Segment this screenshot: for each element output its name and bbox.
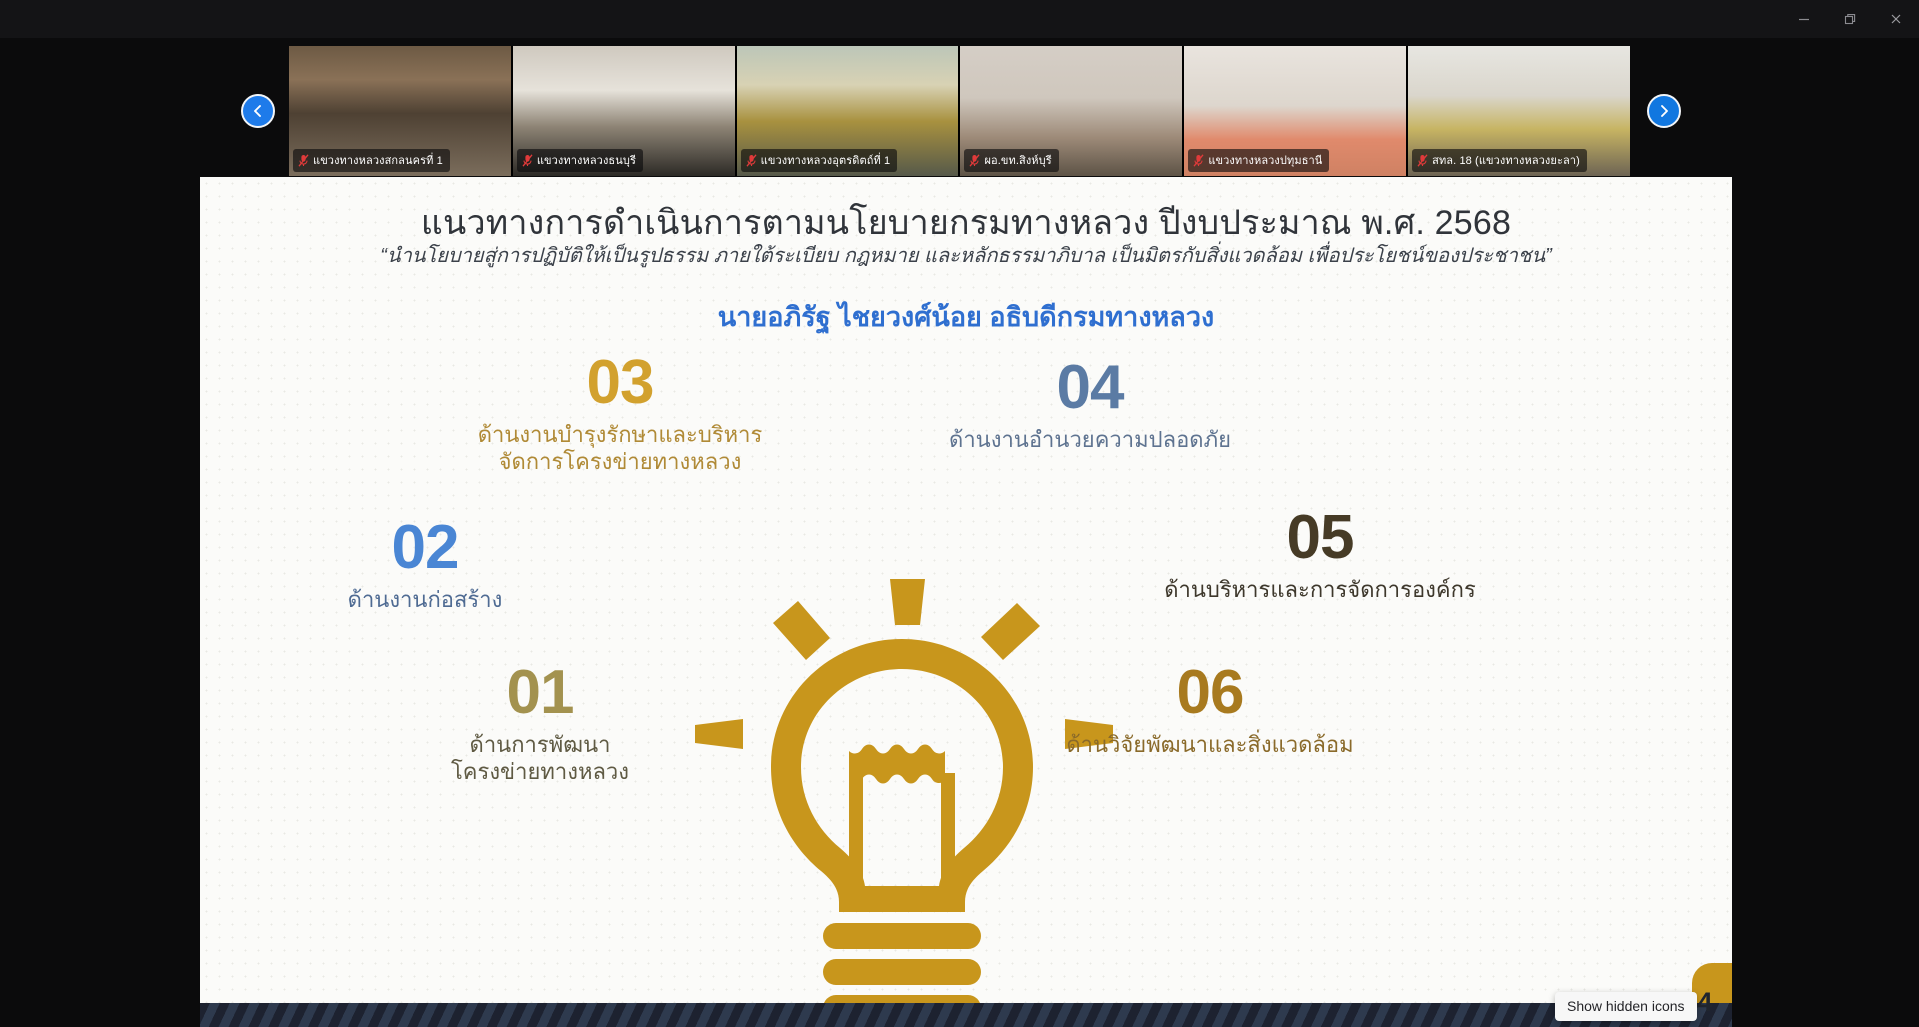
- chevron-right-icon: [1656, 103, 1672, 119]
- mic-muted-icon: [1417, 154, 1428, 167]
- participant-thumbnail[interactable]: แขวงทางหลวงธนบุรี: [513, 46, 735, 176]
- policy-item-05: 05 ด้านบริหารและการจัดการองค์กร: [1100, 507, 1540, 604]
- participant-name: แขวงทางหลวงปทุมธานี: [1208, 151, 1322, 169]
- participant-thumbnail[interactable]: แขวงทางหลวงปทุมธานี: [1184, 46, 1406, 176]
- restore-icon: [1843, 12, 1857, 26]
- policy-item-02: 02 ด้านงานก่อสร้าง: [295, 517, 555, 614]
- show-hidden-icons-tooltip: Show hidden icons: [1555, 992, 1697, 1021]
- policy-item-03: 03 ด้านงานบำรุงรักษาและบริหาร จัดการโครง…: [450, 352, 790, 476]
- participant-label: แขวงทางหลวงธนบุรี: [517, 149, 643, 172]
- policy-caption: ด้านบริหารและการจัดการองค์กร: [1100, 577, 1540, 604]
- participant-label: ผอ.ขท.สิงห์บุรี: [964, 149, 1058, 172]
- filmstrip-next-button[interactable]: [1647, 94, 1681, 128]
- policy-number: 02: [295, 517, 555, 579]
- participant-name: ผอ.ขท.สิงห์บุรี: [984, 151, 1051, 169]
- policy-caption: ด้านวิจัยพัฒนาและสิ่งแวดล้อม: [990, 732, 1430, 759]
- mic-muted-icon: [1193, 154, 1204, 167]
- policy-number: 05: [1100, 507, 1540, 569]
- policy-caption: ด้านงานก่อสร้าง: [295, 587, 555, 614]
- mic-muted-icon: [746, 154, 757, 167]
- participant-filmstrip: แขวงทางหลวงสกลนครที่ 1 แขวงทางหลวงธนบุรี…: [289, 46, 1630, 176]
- policy-number: 03: [450, 352, 790, 414]
- participant-label: แขวงทางหลวงอุตรดิตถ์ที่ 1: [741, 149, 898, 172]
- minimize-icon: [1797, 12, 1811, 26]
- window-titlebar: [0, 0, 1919, 38]
- lightbulb-icon: [687, 577, 1117, 1027]
- shared-slide[interactable]: แนวทางการดำเนินการตามนโยบายกรมทางหลวง ปี…: [200, 177, 1732, 1027]
- participant-thumbnail[interactable]: สทล. 18 (แขวงทางหลวงยะลา): [1408, 46, 1630, 176]
- participant-label: แขวงทางหลวงปทุมธานี: [1188, 149, 1329, 172]
- participant-thumbnail[interactable]: แขวงทางหลวงอุตรดิตถ์ที่ 1: [737, 46, 959, 176]
- participant-label: สทล. 18 (แขวงทางหลวงยะลา): [1412, 149, 1587, 172]
- policy-caption: ด้านงานบำรุงรักษาและบริหาร จัดการโครงข่า…: [450, 422, 790, 476]
- policy-caption: ด้านงานอำนวยความปลอดภัย: [890, 427, 1290, 454]
- slide-speaker-name: นายอภิรัฐ ไชยวงศ์น้อย อธิบดีกรมทางหลวง: [200, 295, 1732, 338]
- participant-name: แขวงทางหลวงธนบุรี: [537, 151, 636, 169]
- mic-muted-icon: [298, 154, 309, 167]
- policy-caption: ด้านการพัฒนา โครงข่ายทางหลวง: [395, 732, 685, 786]
- mic-muted-icon: [969, 154, 980, 167]
- policy-number: 04: [890, 357, 1290, 419]
- participant-name: สทล. 18 (แขวงทางหลวงยะลา): [1432, 151, 1580, 169]
- mic-muted-icon: [522, 154, 533, 167]
- slide-bottom-band: [200, 1003, 1732, 1027]
- participant-thumbnail[interactable]: แขวงทางหลวงสกลนครที่ 1: [289, 46, 511, 176]
- chevron-left-icon: [250, 103, 266, 119]
- policy-item-04: 04 ด้านงานอำนวยความปลอดภัย: [890, 357, 1290, 454]
- slide-subtitle: “นำนโยบายสู่การปฏิบัติให้เป็นรูปธรรม ภาย…: [200, 239, 1732, 271]
- policy-item-06: 06 ด้านวิจัยพัฒนาและสิ่งแวดล้อม: [990, 662, 1430, 759]
- close-icon: [1889, 12, 1903, 26]
- close-button[interactable]: [1873, 0, 1919, 38]
- policy-item-01: 01 ด้านการพัฒนา โครงข่ายทางหลวง: [395, 662, 685, 786]
- minimize-button[interactable]: [1781, 0, 1827, 38]
- participant-name: แขวงทางหลวงสกลนครที่ 1: [313, 151, 443, 169]
- restore-button[interactable]: [1827, 0, 1873, 38]
- policy-number: 01: [395, 662, 685, 724]
- participant-label: แขวงทางหลวงสกลนครที่ 1: [293, 149, 450, 172]
- policy-number: 06: [990, 662, 1430, 724]
- filmstrip-prev-button[interactable]: [241, 94, 275, 128]
- participant-name: แขวงทางหลวงอุตรดิตถ์ที่ 1: [761, 151, 891, 169]
- participant-thumbnail[interactable]: ผอ.ขท.สิงห์บุรี: [960, 46, 1182, 176]
